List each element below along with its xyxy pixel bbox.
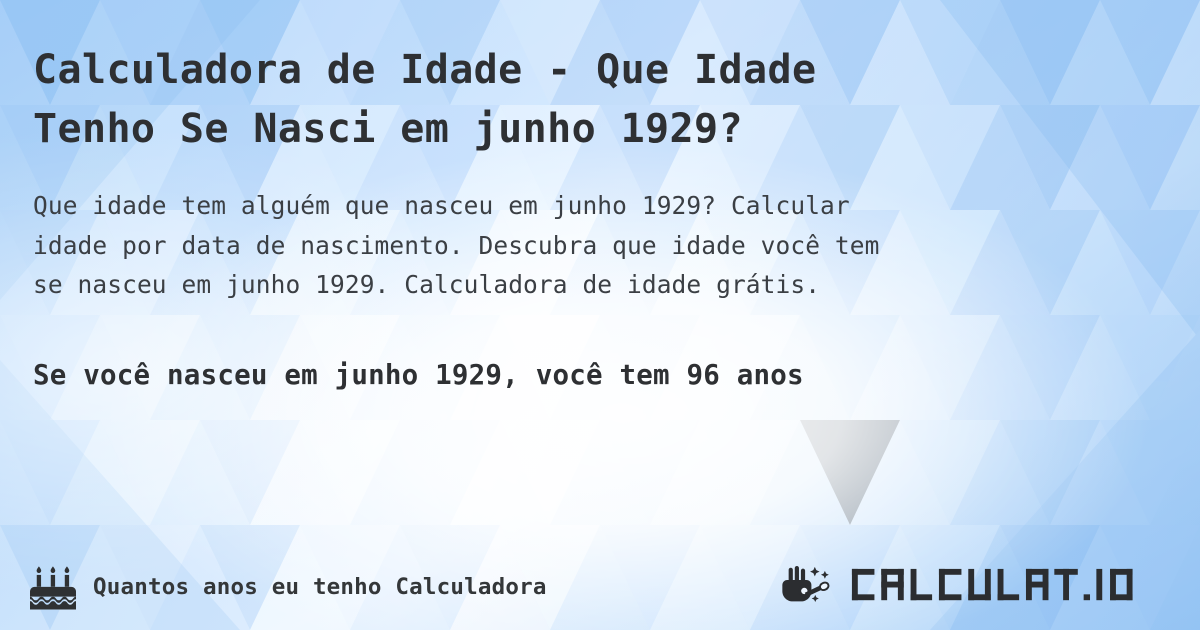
og-image-card: Calculadora de Idade - Que Idade Tenho S… [0, 0, 1200, 630]
birthday-cake-icon [30, 565, 76, 610]
footer-brand-label: Quantos anos eu tenho Calculadora [93, 574, 547, 600]
logo-wordmark-calculatio [849, 563, 1162, 611]
site-logo[interactable] [782, 563, 1162, 611]
footer-brand: Quantos anos eu tenho Calculadora [30, 565, 547, 610]
intro-paragraph: Que idade tem alguém que nasceu em junho… [33, 186, 1143, 305]
hand-magic-wand-icon [782, 565, 838, 609]
content-area: Calculadora de Idade - Que Idade Tenho S… [0, 0, 1200, 630]
footer-bar: Quantos anos eu tenho Calculadora [0, 544, 1200, 630]
page-title: Calculadora de Idade - Que Idade Tenho S… [33, 41, 1033, 159]
age-answer-text: Se você nasceu em junho 1929, você tem 9… [33, 358, 1173, 394]
